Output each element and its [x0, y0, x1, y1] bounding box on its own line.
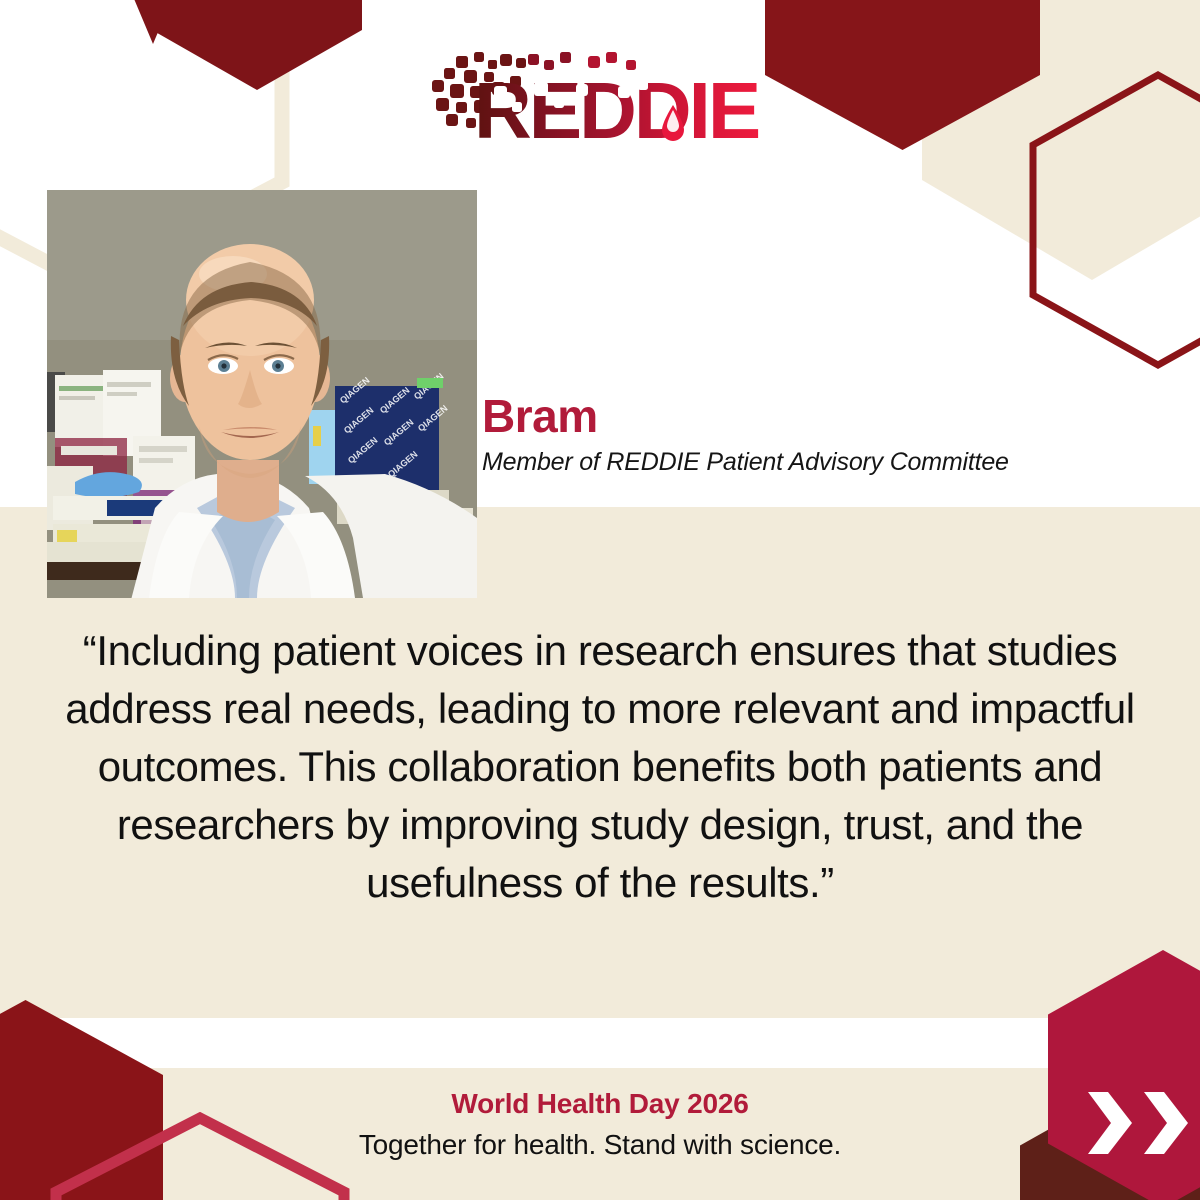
speaker-name: Bram	[482, 392, 1122, 440]
speaker-role: Member of REDDIE Patient Advisory Commit…	[482, 448, 1122, 477]
white-band-gap	[0, 1018, 1200, 1068]
footer-tagline: Together for health. Stand with science.	[0, 1129, 1200, 1161]
footer-title: World Health Day 2026	[0, 1088, 1200, 1120]
footer: World Health Day 2026 Together for healt…	[0, 1088, 1200, 1161]
quote-text: “Including patient voices in research en…	[60, 622, 1140, 912]
poster-canvas: REDDIE	[0, 0, 1200, 1200]
speaker-identity: Bram Member of REDDIE Patient Advisory C…	[482, 392, 1122, 477]
reddie-logo: REDDIE	[430, 50, 770, 150]
speaker-photo: QIAGEN QIAGEN QIAGEN QIAGEN QIAGEN QIAGE…	[47, 190, 477, 598]
hexagon-outline-maroon-top-right-icon	[1028, 70, 1200, 370]
